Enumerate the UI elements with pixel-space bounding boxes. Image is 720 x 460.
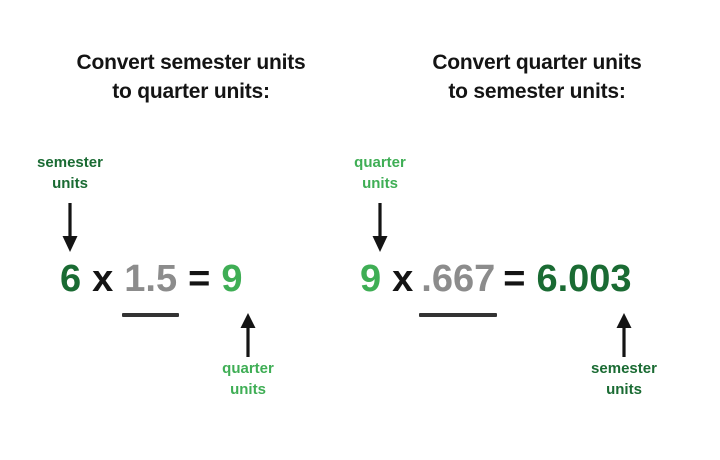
right-arrow-down-icon (368, 203, 392, 253)
left-factor-underline (122, 313, 179, 317)
left-panel-title: Convert semester units to quarter units: (26, 48, 356, 106)
left-equation-factor-group: 1.5 (124, 255, 177, 303)
left-equation-result: 9 (221, 255, 242, 303)
infographic-canvas: Convert semester units to quarter units:… (0, 0, 720, 460)
right-title-line-2: to semester units: (372, 77, 702, 106)
left-top-annotation-line-2: units (8, 173, 132, 194)
right-equation-operand: 9 (360, 255, 381, 303)
left-arrow-down-icon (58, 203, 82, 253)
left-bottom-annotation-line-1: quarter (186, 358, 310, 379)
left-equation-factor: 1.5 (124, 258, 177, 300)
right-panel-title: Convert quarter units to semester units: (372, 48, 702, 106)
left-bottom-annotation: quarter units (186, 358, 310, 400)
right-bottom-annotation: semester units (562, 358, 686, 400)
left-title-line-1: Convert semester units (26, 48, 356, 77)
right-top-annotation-line-1: quarter (318, 152, 442, 173)
left-equation-operand: 6 (60, 255, 81, 303)
left-top-annotation-line-1: semester (8, 152, 132, 173)
left-equation-equals-operator: = (188, 255, 210, 303)
right-title-line-1: Convert quarter units (372, 48, 702, 77)
right-bottom-annotation-line-2: units (562, 379, 686, 400)
right-bottom-annotation-line-1: semester (562, 358, 686, 379)
right-factor-underline (419, 313, 497, 317)
right-top-annotation-line-2: units (318, 173, 442, 194)
left-title-line-2: to quarter units: (26, 77, 356, 106)
left-arrow-up-icon (236, 313, 260, 357)
right-equation: 9 x .667 = 6.003 (360, 255, 632, 303)
left-top-annotation: semester units (8, 152, 132, 194)
left-bottom-annotation-line-2: units (186, 379, 310, 400)
right-equation-factor: .667 (421, 258, 495, 300)
right-equation-factor-group: .667 (421, 255, 495, 303)
right-equation-times-operator: x (392, 255, 413, 303)
left-equation: 6 x 1.5 = 9 (60, 255, 242, 303)
right-equation-result: 6.003 (536, 255, 631, 303)
left-equation-times-operator: x (92, 255, 113, 303)
right-arrow-up-icon (612, 313, 636, 357)
right-equation-equals-operator: = (503, 255, 525, 303)
right-top-annotation: quarter units (318, 152, 442, 194)
